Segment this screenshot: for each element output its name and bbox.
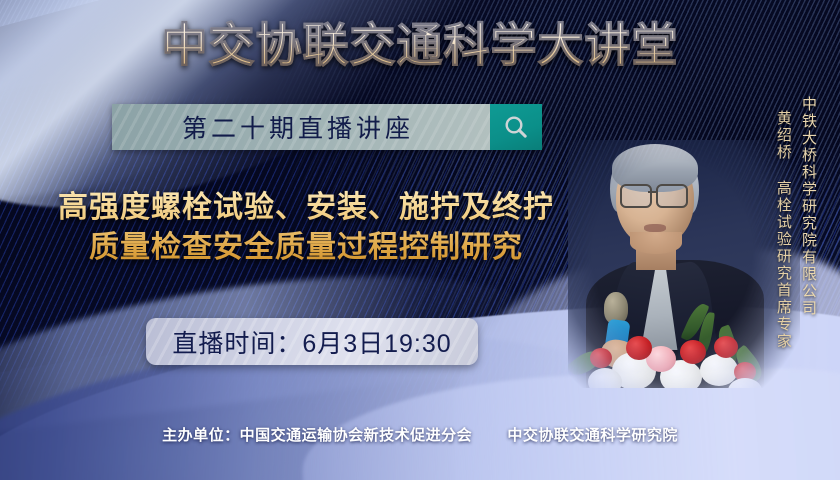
photo-glasses-right xyxy=(656,184,688,208)
speaker-organization: 中铁大桥科学研究院有限公司 xyxy=(799,96,818,317)
bouquet-flower xyxy=(590,348,612,368)
bouquet-flower xyxy=(588,368,622,388)
photo-mouth xyxy=(644,224,666,232)
bouquet-flower xyxy=(714,336,738,358)
search-icon xyxy=(502,113,530,141)
subtitle-bar: 第二十期直播讲座 xyxy=(112,104,542,150)
speaker-credits: 黄绍桥 高栓试验研究首席专家 中铁大桥科学研究院有限公司 xyxy=(774,96,818,350)
bouquet-flower xyxy=(626,336,652,360)
promo-poster: 中交协联交通科学大讲堂 第二十期直播讲座 高强度螺栓试验、安装、施拧及终拧 质量… xyxy=(0,0,840,480)
photo-chin xyxy=(630,232,682,254)
photo-glasses-bridge xyxy=(648,191,656,193)
search-button[interactable] xyxy=(490,104,542,150)
bouquet-flower xyxy=(680,340,706,364)
speaker-name-title: 黄绍桥 高栓试验研究首席专家 xyxy=(774,96,793,350)
photo-glasses-left xyxy=(620,184,652,208)
session-headline: 高强度螺栓试验、安装、施拧及终拧 质量检查安全质量过程控制研究 xyxy=(8,188,604,267)
footer-organizers: 主办单位：中国交通运输协会新技术促进分会 中交协联交通科学研究院 xyxy=(0,424,840,445)
footer-organizer-secondary: 中交协联交通科学研究院 xyxy=(507,427,678,444)
headline-line-1: 高强度螺栓试验、安装、施拧及终拧 xyxy=(58,191,554,224)
subtitle-label: 第二十期直播讲座 xyxy=(112,104,490,150)
headline-line-2: 质量检查安全质量过程控制研究 xyxy=(8,228,604,268)
footer-organizer-primary: 主办单位：中国交通运输协会新技术促进分会 xyxy=(162,427,472,444)
broadcast-time-badge: 直播时间：6月3日19:30 xyxy=(146,318,478,365)
page-title: 中交协联交通科学大讲堂 xyxy=(0,20,840,71)
